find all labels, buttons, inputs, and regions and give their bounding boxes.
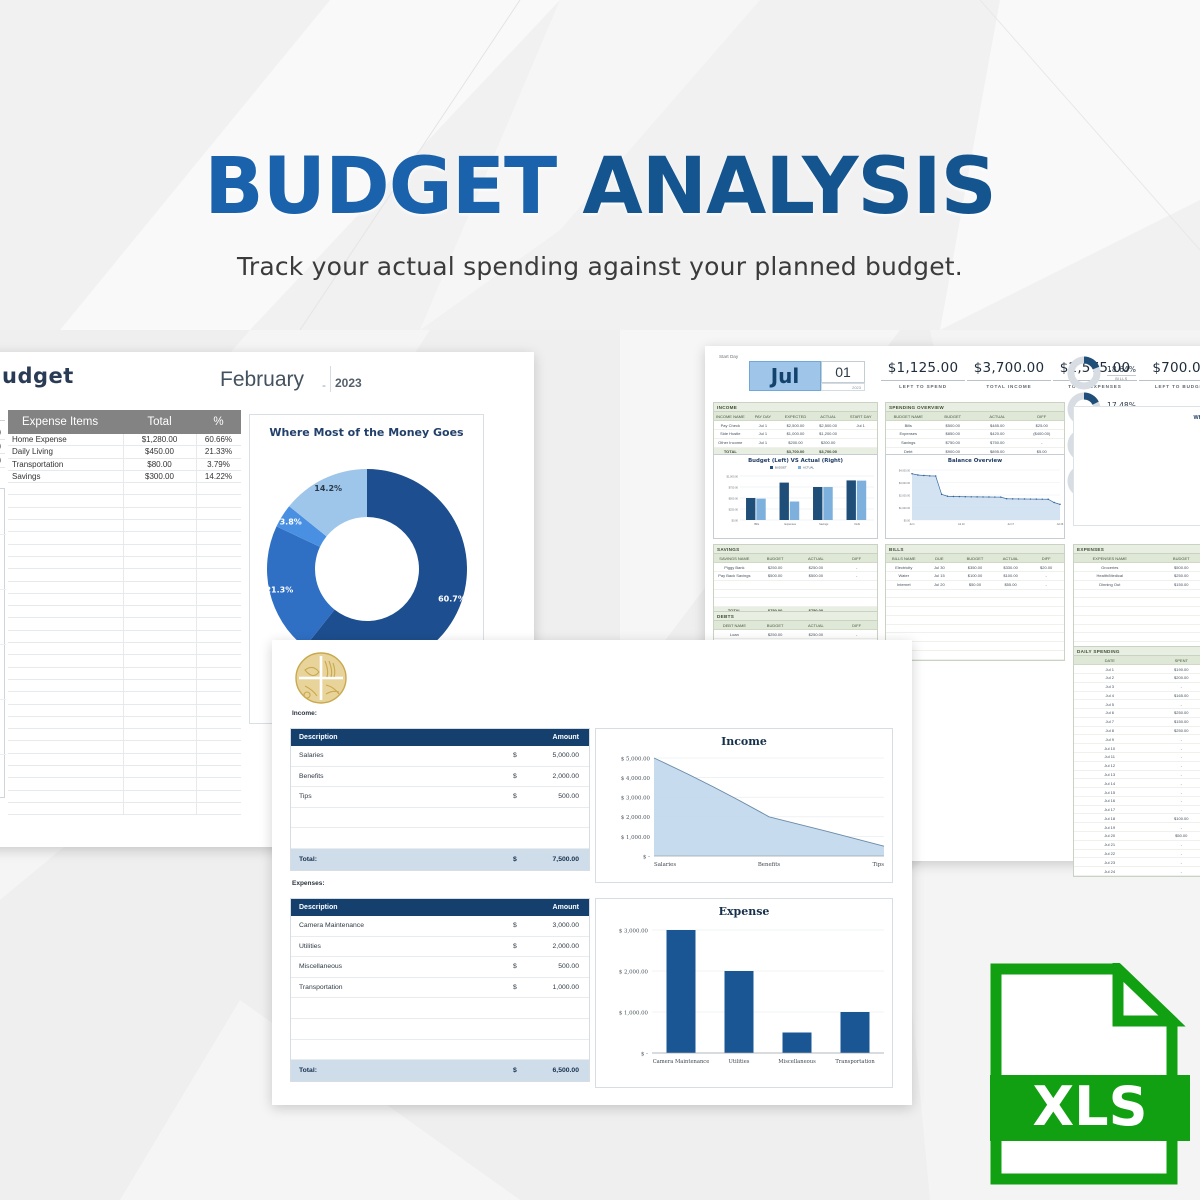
- table-caption: BILLS: [886, 545, 1064, 554]
- table-caption: DAILY SPENDING: [1074, 647, 1200, 656]
- table-row-empty[interactable]: [8, 803, 241, 815]
- table-row[interactable]: Health/Medical$250.00: [1074, 572, 1200, 581]
- left-expense-bar-chart: $2,110.00 EXPENSE: [0, 488, 5, 798]
- table-row-empty[interactable]: [8, 655, 241, 667]
- svg-text:Jul 17: Jul 17: [1007, 523, 1014, 526]
- expenses-section-label: Expenses:: [292, 880, 325, 887]
- svg-text:$500.00: $500.00: [729, 497, 739, 501]
- svg-text:$ 3,000.00: $ 3,000.00: [619, 928, 649, 934]
- xls-label: XLS: [1033, 1075, 1148, 1138]
- bar: [783, 1033, 812, 1054]
- gauge-percent: 18.64%: [1107, 365, 1136, 374]
- svg-text:$ 5,000.00: $ 5,000.00: [621, 756, 651, 762]
- page-header: BUDGET ANALYSIS Track your actual spendi…: [0, 0, 1200, 330]
- bar: [746, 498, 755, 520]
- svg-text:Tips: Tips: [872, 862, 884, 868]
- table-row-empty[interactable]: [8, 545, 241, 557]
- table-row-empty[interactable]: [8, 741, 241, 753]
- savings-table[interactable]: SAVINGSSAVINGS NAMEBUDGETACTUALDIFFPiggy…: [713, 544, 878, 617]
- table-row[interactable]: ElectricityJul 30$350.00$330.00$20.00: [886, 563, 1064, 572]
- table-total-row: Total:$7,500.00: [291, 849, 589, 870]
- table-row[interactable]: Benefits$2,000.00: [291, 767, 589, 788]
- table-row[interactable]: Daily Living$450.0021.33%: [8, 446, 241, 458]
- table-row-empty[interactable]: [8, 705, 241, 717]
- svg-text:Benefits: Benefits: [758, 862, 781, 868]
- table-row-empty[interactable]: [8, 692, 241, 704]
- table-row[interactable]: Jul 14-: [1074, 779, 1200, 788]
- table-row-empty[interactable]: [8, 791, 241, 803]
- table-total-row: Total:$6,500.00: [291, 1060, 589, 1081]
- svg-text:$ -: $ -: [641, 1051, 648, 1057]
- table-row[interactable]: Jul 11-: [1074, 753, 1200, 762]
- page-title: BUDGET ANALYSIS: [204, 148, 996, 226]
- where-money-panel: Where M: [1073, 406, 1200, 526]
- table-row[interactable]: Bills$500.00$485.00$25.00: [886, 421, 1064, 430]
- table-row-empty[interactable]: .....: [886, 590, 1064, 599]
- table-row-empty[interactable]: .....: [886, 625, 1064, 634]
- donut-slice-label: 14.2%: [314, 484, 342, 493]
- bar: [667, 930, 696, 1053]
- left-summary-row: $240.00: [0, 454, 5, 468]
- bills-table[interactable]: BILLSBILLS NAMEDUEBUDGETACTUALDIFFElectr…: [885, 544, 1065, 661]
- table-row[interactable]: Jul 17-: [1074, 806, 1200, 815]
- dashboard-year-field[interactable]: 2023: [821, 383, 865, 391]
- table-row[interactable]: Loan$250.00$250.00-: [714, 630, 877, 639]
- table-row[interactable]: Jul 10-: [1074, 744, 1200, 753]
- kpi-left-to-spend: $1,125.00 LEFT TO SPEND: [881, 360, 965, 389]
- table-row[interactable]: Dinning Out$150.00: [1074, 581, 1200, 590]
- table-caption: SPENDING OVERVIEW: [886, 403, 1064, 412]
- table-row-empty[interactable]: [8, 668, 241, 680]
- table-row[interactable]: Side HustleJul 1$1,000.00$1,200.00: [714, 430, 877, 439]
- svg-text:Jul 26: Jul 26: [1057, 523, 1064, 526]
- table-row[interactable]: Home Expense$1,280.0060.66%: [8, 434, 241, 446]
- start-day-label: Start Day: [719, 354, 738, 359]
- table-row[interactable]: Pay Back Savings$500.00$500.00-: [714, 572, 877, 581]
- table-row-empty[interactable]: [8, 778, 241, 790]
- table-row[interactable]: Tips$500.00: [291, 787, 589, 808]
- donut-chart-title: Where Most of the Money Goes: [250, 426, 483, 439]
- svg-text:Debt: Debt: [855, 522, 861, 526]
- table-header: DescriptionAmount: [291, 729, 589, 746]
- title-word-budget: BUDGET: [204, 142, 556, 232]
- income-table[interactable]: INCOMEINCOME NAMEPAY DAYEXPECTEDACTUALST…: [713, 402, 878, 457]
- table-row[interactable]: Savings$750.00$750.00-: [886, 439, 1064, 448]
- table-header: INCOME NAMEPAY DAYEXPECTEDACTUALSTART DA…: [714, 412, 877, 421]
- table-row-empty[interactable]: .....: [886, 633, 1064, 642]
- title-word-analysis: ANALYSIS: [582, 142, 995, 232]
- table-header: DATESPENT: [1074, 656, 1200, 665]
- left-summary-row: $2,110.00: [0, 440, 5, 454]
- table-row-empty[interactable]: .....: [886, 642, 1064, 651]
- table-row[interactable]: Other IncomeJul 1$200.00$200.00: [714, 439, 877, 448]
- svg-text:Miscellaneous: Miscellaneous: [778, 1059, 816, 1065]
- bar: [790, 502, 799, 520]
- table-row-empty[interactable]: ....: [714, 581, 877, 590]
- where-money-title: Where M: [1074, 407, 1200, 421]
- front-expense-chart: Expense $ -$ 1,000.00$ 2,000.00$ 3,000.0…: [595, 898, 893, 1088]
- income-chart-title: Income: [596, 729, 892, 748]
- left-sheet-dash: -: [322, 378, 326, 392]
- table-row[interactable]: Jul 19-: [1074, 823, 1200, 832]
- bar: [823, 487, 832, 520]
- svg-text:$2,000.00: $2,000.00: [899, 495, 911, 498]
- table-row[interactable]: [291, 828, 589, 849]
- table-row[interactable]: Salaries$5,000.00: [291, 746, 589, 767]
- table-row-empty[interactable]: [8, 594, 241, 606]
- table-row[interactable]: Jul 6$250.00: [1074, 709, 1200, 718]
- svg-text:$ 3,000.00: $ 3,000.00: [621, 796, 651, 802]
- svg-text:$0.00: $0.00: [732, 519, 739, 523]
- balance-chart-title: Balance Overview: [886, 455, 1064, 464]
- table-row[interactable]: [291, 808, 589, 829]
- table-row[interactable]: Transportation$1,000.00: [291, 978, 589, 999]
- table-row-empty[interactable]: [8, 483, 241, 495]
- table-row-empty[interactable]: [8, 631, 241, 643]
- donut-slice-label: 60.7%: [438, 595, 466, 604]
- svg-text:Savings: Savings: [819, 522, 829, 526]
- table-row[interactable]: Jul 16-: [1074, 797, 1200, 806]
- table-row[interactable]: Transportation$80.003.79%: [8, 459, 241, 471]
- page-subtitle: Track your actual spending against your …: [237, 252, 963, 281]
- left-sheet-brand: udget: [2, 364, 74, 388]
- table-row-empty[interactable]: ..: [1074, 607, 1200, 616]
- budget-vs-actual-chart: Budget (Left) VS Actual (Right) $0.00$25…: [713, 454, 878, 539]
- bar: [857, 481, 866, 520]
- table-row-empty[interactable]: [8, 754, 241, 766]
- table-row[interactable]: WaterJul 15$100.00$100.00-: [886, 572, 1064, 581]
- svg-text:Bills: Bills: [754, 522, 759, 526]
- bva-chart-title: Budget (Left) VS Actual (Right): [714, 455, 877, 464]
- gauge-caption: BILLS: [1107, 375, 1136, 381]
- balance-overview-chart: Balance Overview $0.00$1,000.00$2,000.00…: [885, 454, 1065, 539]
- table-row[interactable]: Jul 8$250.00: [1074, 727, 1200, 736]
- table-row[interactable]: Jul 18$100.00: [1074, 814, 1200, 823]
- svg-text:$4,000.00: $4,000.00: [899, 470, 911, 473]
- table-row[interactable]: Jul 23-: [1074, 858, 1200, 867]
- svg-text:Jul 10: Jul 10: [958, 523, 965, 526]
- svg-text:$ -: $ -: [643, 854, 650, 860]
- dashboard-day-selector[interactable]: 01: [821, 361, 865, 383]
- table-row[interactable]: Jul 21-: [1074, 841, 1200, 850]
- table-row[interactable]: Jul 1$190.00: [1074, 665, 1200, 674]
- table-row[interactable]: InternetJul 20$50.00$55.00-: [886, 581, 1064, 590]
- table-row-empty[interactable]: [8, 557, 241, 569]
- table-row[interactable]: Jul 12-: [1074, 762, 1200, 771]
- table-row[interactable]: Jul 13-: [1074, 771, 1200, 780]
- svg-text:Transportation: Transportation: [835, 1059, 875, 1065]
- table-row-empty[interactable]: ..: [1074, 633, 1200, 642]
- kpi-total-income: $3,700.00 TOTAL INCOME: [967, 360, 1051, 389]
- front-income-table[interactable]: DescriptionAmountSalaries$5,000.00Benefi…: [290, 728, 590, 871]
- table-header: BUDGET NAMEBUDGETACTUALDIFF: [886, 412, 1064, 421]
- kpi-left-to-budget: $700.00 LEFT TO BUDGET: [1139, 360, 1200, 389]
- svg-text:$ 1,000.00: $ 1,000.00: [619, 1010, 649, 1016]
- income-section-label: Income:: [292, 710, 317, 717]
- table-row[interactable]: Jul 4$165.00: [1074, 692, 1200, 701]
- table-row[interactable]: Expenses$850.00$420.00($400.00): [886, 430, 1064, 439]
- table-row-empty[interactable]: .....: [886, 616, 1064, 625]
- svg-text:$250.00: $250.00: [729, 508, 739, 512]
- table-row[interactable]: Jul 2$200.00: [1074, 674, 1200, 683]
- svg-text:$750.00: $750.00: [729, 486, 739, 490]
- donut-slice-label: 3.8%: [280, 517, 302, 526]
- table-row-empty[interactable]: ..: [1074, 590, 1200, 599]
- col-total: Total: [123, 416, 196, 428]
- table-row-empty[interactable]: ..: [1074, 625, 1200, 634]
- left-summary-row: $2,350.00: [0, 426, 5, 440]
- table-caption: DEBTS: [714, 612, 877, 621]
- table-row[interactable]: Jul 9-: [1074, 735, 1200, 744]
- table-row-empty[interactable]: [8, 643, 241, 655]
- table-row-empty[interactable]: [8, 680, 241, 692]
- table-row[interactable]: Jul 24-: [1074, 867, 1200, 876]
- svg-text:$ 2,000.00: $ 2,000.00: [619, 969, 649, 975]
- table-row[interactable]: Piggy Bank$250.00$250.00-: [714, 563, 877, 572]
- table-row-empty[interactable]: [8, 729, 241, 741]
- bar: [847, 480, 856, 520]
- bar: [756, 499, 765, 520]
- table-row[interactable]: Jul 20$50.00: [1074, 832, 1200, 841]
- table-row-empty[interactable]: [8, 606, 241, 618]
- table-row-empty[interactable]: [8, 717, 241, 729]
- table-row[interactable]: [291, 998, 589, 1019]
- table-row-empty[interactable]: [8, 532, 241, 544]
- table-row-empty[interactable]: .....: [886, 598, 1064, 607]
- svg-text:ACTUAL: ACTUAL: [803, 466, 814, 470]
- table-header: BILLS NAMEDUEBUDGETACTUALDIFF: [886, 554, 1064, 563]
- table-row-empty[interactable]: [8, 508, 241, 520]
- table-row[interactable]: Camera Maintenance$3,000.00: [291, 916, 589, 937]
- left-summary-divider: [0, 420, 5, 421]
- donut-gauge-icon: [1067, 356, 1101, 390]
- bar: [780, 483, 789, 520]
- table-row-empty[interactable]: [8, 618, 241, 630]
- table-row[interactable]: Groceries$500.00: [1074, 563, 1200, 572]
- svg-text:Camera Maintenance: Camera Maintenance: [653, 1059, 710, 1065]
- table-row-empty[interactable]: [8, 569, 241, 581]
- svg-text:BUDGET: BUDGET: [775, 466, 787, 470]
- front-expenses-table[interactable]: DescriptionAmountCamera Maintenance$3,00…: [290, 898, 590, 1082]
- table-row[interactable]: [291, 1040, 589, 1061]
- svg-text:Salaries: Salaries: [654, 862, 676, 868]
- svg-text:$ 2,000.00: $ 2,000.00: [621, 815, 651, 821]
- expense-items-table[interactable]: Expense Items Total % Home Expense$1,280…: [8, 410, 241, 815]
- left-sheet-year: 2023: [335, 376, 362, 390]
- gauge-bills: 18.64%BILLS: [1067, 356, 1136, 390]
- table-row-empty[interactable]: ..: [1074, 598, 1200, 607]
- table-row[interactable]: Jul 22-: [1074, 850, 1200, 859]
- table-caption: INCOME: [714, 403, 877, 412]
- table-row-empty[interactable]: ..: [1074, 616, 1200, 625]
- svg-text:$1,000.00: $1,000.00: [899, 507, 911, 510]
- svg-text:$3,000.00: $3,000.00: [899, 482, 911, 485]
- front-income-chart: Income $ -$ 1,000.00$ 2,000.00$ 3,000.00…: [595, 728, 893, 883]
- table-header: SAVINGS NAMEBUDGETACTUALDIFF: [714, 554, 877, 563]
- expense-chart-title: Expense: [596, 899, 892, 918]
- table-caption: SAVINGS: [714, 545, 877, 554]
- table-row-empty[interactable]: ....: [714, 590, 877, 599]
- table-row-empty[interactable]: [8, 495, 241, 507]
- left-sheet-month: February: [220, 368, 304, 392]
- expense-table-body[interactable]: Home Expense$1,280.0060.66%Daily Living$…: [8, 434, 241, 815]
- col-percent: %: [196, 416, 241, 428]
- table-row-empty[interactable]: ....: [714, 598, 877, 607]
- table-row-empty[interactable]: [8, 520, 241, 532]
- table-row[interactable]: Utilities$2,000.00: [291, 937, 589, 958]
- table-row[interactable]: Jul 3-: [1074, 683, 1200, 692]
- table-row[interactable]: Jul 15-: [1074, 788, 1200, 797]
- table-caption: EXPENSES: [1074, 545, 1200, 554]
- table-row-empty[interactable]: [8, 582, 241, 594]
- col-expense-items: Expense Items: [8, 416, 123, 428]
- table-row[interactable]: Pay CheckJul 1$2,500.00$2,500.00Jul 1: [714, 421, 877, 430]
- bar: [725, 971, 754, 1053]
- expense-table-header: Expense Items Total %: [8, 410, 241, 434]
- table-row[interactable]: Savings$300.0014.22%: [8, 471, 241, 483]
- svg-text:$ 1,000.00: $ 1,000.00: [621, 835, 651, 841]
- table-row[interactable]: Jul 7$150.00: [1074, 718, 1200, 727]
- table-row[interactable]: Miscellaneous$500.00: [291, 957, 589, 978]
- daily-spending-table[interactable]: DAILY SPENDINGDATESPENTJul 1$190.00Jul 2…: [1073, 646, 1200, 877]
- svg-text:Utilities: Utilities: [729, 1059, 750, 1065]
- xls-file-badge: XLS: [990, 963, 1190, 1185]
- lunastorm-logo-icon: [295, 652, 347, 704]
- donut-slice-label: 21.3%: [265, 585, 293, 594]
- svg-text:Expenses: Expenses: [785, 522, 797, 526]
- dashboard-month-selector[interactable]: Jul: [749, 361, 821, 391]
- table-row-empty[interactable]: .....: [886, 607, 1064, 616]
- svg-text:$1,000.00: $1,000.00: [726, 475, 738, 479]
- bar: [841, 1012, 870, 1053]
- svg-text:Jul 1: Jul 1: [909, 523, 915, 526]
- table-header: DescriptionAmount: [291, 899, 589, 916]
- table-header: EXPENSES NAMEBUDGET: [1074, 554, 1200, 563]
- table-header: DEBT NAMEBUDGETACTUALDIFF: [714, 621, 877, 630]
- bar: [813, 487, 822, 520]
- left-summary-values: $2,350.00 $2,110.00 $240.00: [0, 426, 5, 468]
- table-row-empty[interactable]: .....: [886, 651, 1064, 660]
- table-row[interactable]: Jul 5-: [1074, 700, 1200, 709]
- table-row-empty[interactable]: [8, 766, 241, 778]
- table-row[interactable]: [291, 1019, 589, 1040]
- svg-text:$ 4,000.00: $ 4,000.00: [621, 776, 651, 782]
